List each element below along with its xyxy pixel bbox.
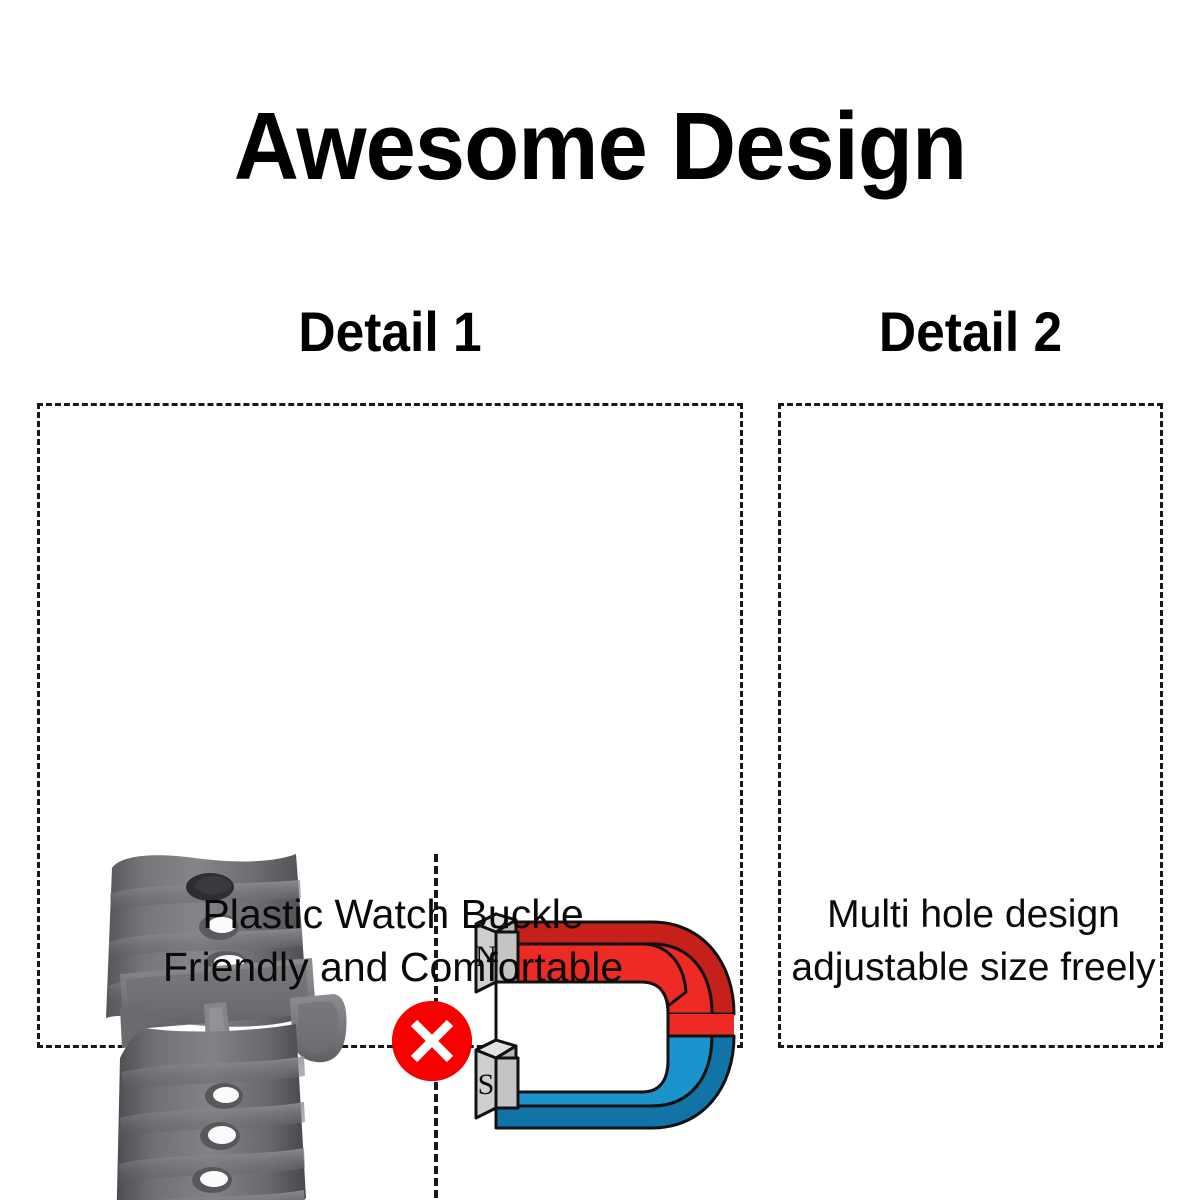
infographic-page: Awesome Design Detail 1 Detail 2 xyxy=(0,0,1200,1200)
section-heading-detail-1: Detail 1 xyxy=(65,300,715,364)
detail-2-caption: Multi hole design adjustable size freely xyxy=(787,888,1160,994)
detail-2-panel: Multi hole design adjustable size freely xyxy=(778,403,1163,1048)
detail-1-panel: N S Plastic Watch Buckle Friendly and Co… xyxy=(37,403,743,1048)
prohibited-badge xyxy=(392,1001,472,1081)
section-heading-detail-2: Detail 2 xyxy=(793,300,1147,364)
page-title: Awesome Design xyxy=(36,92,1164,202)
detail-1-caption: Plastic Watch Buckle Friendly and Comfor… xyxy=(60,888,726,994)
magnet-south-label: S xyxy=(478,1068,495,1101)
